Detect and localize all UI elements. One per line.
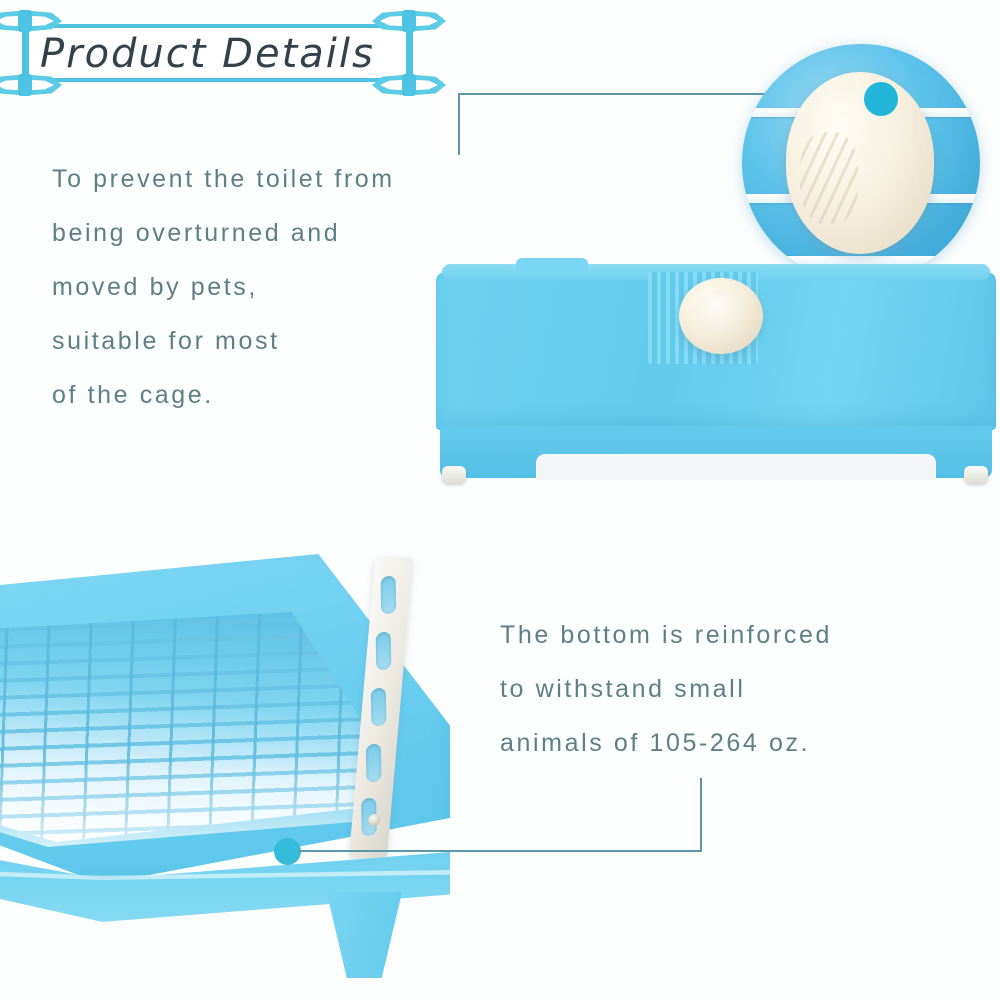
- rail-slot: [381, 575, 397, 614]
- rail-slot: [376, 631, 392, 670]
- rail-slot: [366, 743, 382, 782]
- product-side-view-photo: [436, 258, 996, 486]
- callout-top-line-5: of the cage.: [52, 368, 452, 422]
- callout-bottom-connector-vertical: [700, 778, 702, 852]
- callout-bottom-connector-horizontal: [298, 850, 702, 852]
- callout-top-text: To prevent the toilet from being overtur…: [52, 152, 452, 422]
- product-tray-photo: [0, 540, 500, 970]
- callout-bottom-line-1: The bottom is reinforced: [500, 608, 1000, 662]
- toilet-base-cutout: [536, 454, 936, 480]
- rail-slot: [371, 687, 387, 726]
- page-title: Product Details: [40, 28, 410, 80]
- product-details-page: Product Details To prevent the toilet fr…: [0, 0, 1000, 1000]
- rail-screw-icon: [368, 814, 381, 826]
- callout-bottom-marker-dot: [274, 838, 301, 865]
- callout-bottom-text: The bottom is reinforced to withstand sm…: [500, 608, 1000, 770]
- callout-bottom-line-3: animals of 105-264 oz.: [500, 716, 1000, 770]
- zoom-inset-marker-dot: [864, 82, 898, 116]
- toilet-box-notch: [516, 258, 588, 272]
- toilet-foot: [442, 466, 466, 484]
- toilet-foot: [964, 466, 988, 484]
- knob-knurling: [800, 132, 858, 224]
- callout-bottom-line-2: to withstand small: [500, 662, 1000, 716]
- callout-top-line-1: To prevent the toilet from: [52, 152, 452, 206]
- page-header-banner: Product Details: [14, 12, 420, 94]
- callout-top-connector-horizontal: [458, 93, 788, 95]
- tray-leg: [310, 892, 402, 978]
- callout-top-line-3: moved by pets,: [52, 260, 452, 314]
- screw-knob-zoom-inset: [742, 44, 980, 282]
- toilet-fixing-knob-highlight: [695, 290, 747, 336]
- callout-top-line-2: being overturned and: [52, 206, 452, 260]
- callout-top-connector-vertical: [458, 93, 460, 155]
- callout-top-line-4: suitable for most: [52, 314, 452, 368]
